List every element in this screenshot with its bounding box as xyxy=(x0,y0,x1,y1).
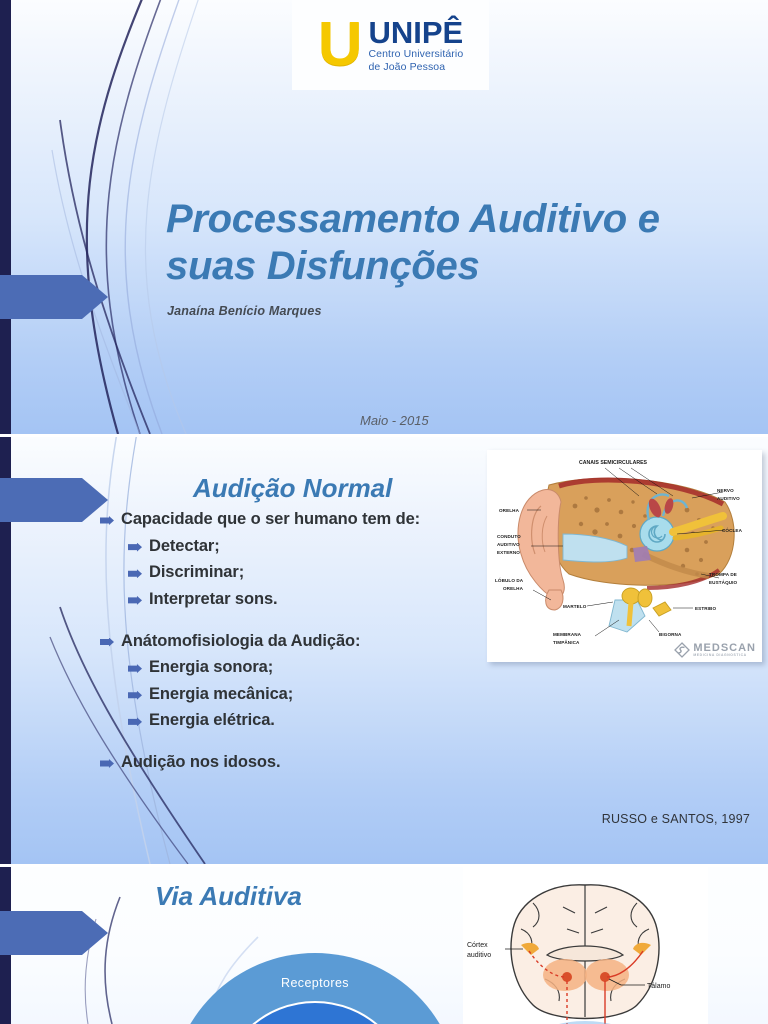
list-item-label: Discriminar; xyxy=(149,562,244,583)
presentation-author: Janaína Benício Marques xyxy=(167,304,322,318)
list-item-label: Energia sonora; xyxy=(149,657,273,678)
slide-separator-1 xyxy=(0,434,768,437)
medscan-watermark: MEDSCAN MEDICINA DIAGNOSTICA xyxy=(674,642,756,658)
slide-via-auditiva: Via Auditiva Receptores xyxy=(0,867,768,1024)
ear-label-estribo: ESTRIBO xyxy=(695,606,716,611)
arrow-bullet-icon xyxy=(100,759,114,768)
arrow-bullet-icon xyxy=(128,664,142,673)
section-banner-arrow xyxy=(0,478,108,522)
unipe-logo: U UNIPÊ Centro Universitário de João Pes… xyxy=(292,0,489,90)
ear-label-trompa-1: TROMPA DE xyxy=(709,572,737,577)
list-item-label: Energia mecânica; xyxy=(149,684,293,705)
list-item: Energia elétrica. xyxy=(128,710,470,731)
presentation-page: U UNIPÊ Centro Universitário de João Pes… xyxy=(0,0,768,1024)
left-rail-decoration xyxy=(0,0,11,434)
brain-auditory-pathway-figure: Córtex auditivo Tálamo xyxy=(463,867,708,1024)
arrow-bullet-icon xyxy=(128,691,142,700)
brain-label-cortex-2: auditivo xyxy=(467,952,491,959)
slide-audicao-normal: Audição Normal Capacidade que o ser huma… xyxy=(0,437,768,864)
ear-label-conduto-1: CONDUTO xyxy=(497,534,521,539)
list-item: Interpretar sons. xyxy=(128,589,470,610)
slide-title-via-auditiva: Via Auditiva xyxy=(155,881,302,912)
logo-wordmark: UNIPÊ xyxy=(368,17,463,48)
arrow-bullet-icon xyxy=(128,596,142,605)
list-item: Capacidade que o ser humano tem de: xyxy=(100,509,470,530)
ear-label-orelha: ORELHA xyxy=(499,508,520,513)
section-banner-arrow xyxy=(0,911,108,955)
arrow-bullet-icon xyxy=(100,638,114,647)
list-item: Energia sonora; xyxy=(128,657,470,678)
medscan-tagline: MEDICINA DIAGNOSTICA xyxy=(693,654,756,657)
list-item: Anátomofisiologia da Audição: xyxy=(100,631,470,652)
bullet-list: Capacidade que o ser humano tem de: Dete… xyxy=(100,509,470,779)
ear-label-trompa-2: EUSTÁQUIO xyxy=(709,579,738,585)
list-item: Energia mecânica; xyxy=(128,684,470,705)
arrow-bullet-icon xyxy=(128,569,142,578)
list-item: Discriminar; xyxy=(128,562,470,583)
ear-label-lobulo-1: LÓBULO DA xyxy=(495,576,524,583)
brain-illustration: Córtex auditivo Tálamo xyxy=(463,867,708,1024)
ear-label-membrana-2: TIMPÂNICA xyxy=(553,639,580,645)
list-item-label: Anátomofisiologia da Audição: xyxy=(121,631,360,652)
ear-anatomy-illustration: CANAIS SEMICIRCULARES ORELHA CONDUTO AUD… xyxy=(487,450,762,662)
slide-title: U UNIPÊ Centro Universitário de João Pes… xyxy=(0,0,768,434)
medscan-logo-icon xyxy=(674,642,690,658)
logo-subtitle-line1: Centro Universitário xyxy=(368,48,463,60)
presentation-title: Processamento Auditivo e suas Disfunções xyxy=(166,196,736,290)
ear-label-lobulo-2: ORELHA xyxy=(503,586,524,591)
logo-subtitle-line2: de João Pessoa xyxy=(368,61,463,73)
ring-outer-label: Receptores xyxy=(170,976,460,990)
list-item-label: Capacidade que o ser humano tem de: xyxy=(121,509,420,530)
list-item: Detectar; xyxy=(128,536,470,557)
list-item-label: Detectar; xyxy=(149,536,220,557)
logo-u-mark: U xyxy=(318,21,361,69)
brain-label-thalamus: Tálamo xyxy=(647,983,670,990)
ear-label-conduto-3: EXTERNO xyxy=(497,550,520,555)
slide-title-audicao-normal: Audição Normal xyxy=(193,473,392,504)
ear-label-semicircular-canals: CANAIS SEMICIRCULARES xyxy=(579,460,648,466)
arrow-bullet-icon xyxy=(100,516,114,525)
list-item-label: Audição nos idosos. xyxy=(121,752,280,773)
list-item-label: Interpretar sons. xyxy=(149,589,278,610)
ear-label-membrana-1: MEMBRANA xyxy=(553,632,582,637)
title-slide-banner-arrow xyxy=(0,275,108,319)
presentation-date: Maio - 2015 xyxy=(360,413,429,428)
ear-label-martelo: MARTELO xyxy=(563,604,587,609)
list-item: Audição nos idosos. xyxy=(100,752,470,773)
brain-label-cortex-1: Córtex xyxy=(467,942,488,949)
arrow-bullet-icon xyxy=(128,543,142,552)
ear-anatomy-figure: CANAIS SEMICIRCULARES ORELHA CONDUTO AUD… xyxy=(487,450,762,662)
list-item-label: Energia elétrica. xyxy=(149,710,275,731)
ear-label-nervo-2: AUDITIVO xyxy=(717,496,740,501)
slide-separator-2 xyxy=(0,864,768,867)
ear-label-bigorna: BIGORNA xyxy=(659,632,682,637)
ear-label-nervo-1: NERVO xyxy=(717,488,734,493)
logo-text-group: UNIPÊ Centro Universitário de João Pesso… xyxy=(368,17,463,73)
arrow-bullet-icon xyxy=(128,717,142,726)
source-citation: RUSSO e SANTOS, 1997 xyxy=(602,812,750,826)
ear-label-conduto-2: AUDITIVO xyxy=(497,542,520,547)
ear-label-coclea: CÓCLEA xyxy=(722,526,743,533)
